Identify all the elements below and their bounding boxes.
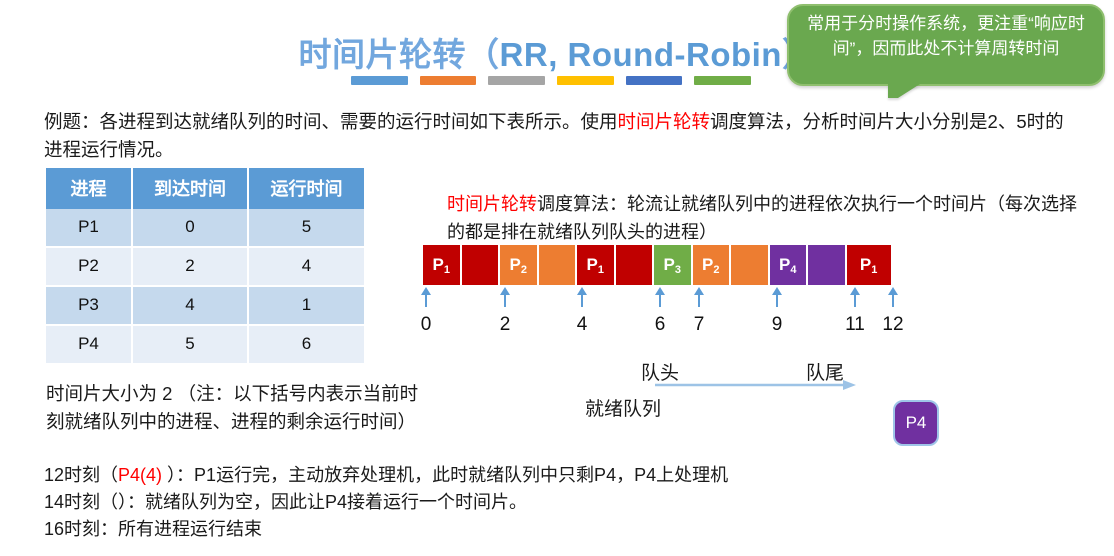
title-accent-bar-6 — [694, 76, 751, 85]
gantt-segment-blank — [730, 244, 769, 286]
process-table: 进程 到达时间 运行时间 P1 0 5 P2 2 4 P3 4 1 P4 — [46, 168, 364, 365]
timeline-note-1-highlight: P4(4) — [118, 465, 162, 485]
table-cell-burst: 1 — [248, 286, 364, 325]
timeline-note-line-1: 12时刻（P4(4) ）：P1运行完，主动放弃处理机，此时就绪队列中只剩P4，P… — [44, 462, 1104, 489]
timeline-tick-12: 12 — [882, 314, 903, 336]
timeslice-note-line2: 刻就绪队列中的进程、进程的剩余运行时间） — [46, 408, 476, 436]
title-accent-bar-4 — [557, 76, 614, 85]
table-cell-arrival: 4 — [132, 286, 248, 325]
table-header-cell: 到达时间 — [132, 168, 248, 209]
table-cell-process: P2 — [46, 247, 132, 286]
timeline-tick-11: 11 — [845, 314, 865, 336]
timeline-tick-4: 4 — [577, 314, 588, 336]
timeline-note-1-b: ）：P1运行完，主动放弃处理机，此时就绪队列中只剩P4，P4上处理机 — [162, 465, 728, 485]
callout-note: 常用于分时操作系统，更注重“响应时间”，因而此处不计算周转时间 — [787, 4, 1105, 86]
algorithm-description-highlight: 时间片轮转 — [447, 194, 537, 214]
gantt-segment-label: P2 — [702, 255, 719, 275]
table-header-row: 进程 到达时间 运行时间 — [46, 168, 364, 209]
table-cell-process: P1 — [46, 209, 132, 247]
table-cell-burst: 6 — [248, 325, 364, 364]
timeline-tick-6: 6 — [655, 314, 666, 336]
gantt-segment-index: 2 — [521, 264, 527, 276]
page-title-cn: 时间片轮转（ — [299, 36, 500, 73]
timeline-notes: 12时刻（P4(4) ）：P1运行完，主动放弃处理机，此时就绪队列中只剩P4，P… — [44, 462, 1104, 543]
timeslice-note: 时间片大小为 2 （注：以下括号内表示当前时 刻就绪队列中的进程、进程的剩余运行… — [46, 380, 476, 436]
table-cell-burst: 5 — [248, 209, 364, 247]
timeline-tick-2: 2 — [500, 314, 511, 336]
gantt-segment-P1: P1 — [576, 244, 615, 286]
gantt-segment-blank — [807, 244, 846, 286]
gantt-segment-label: P3 — [664, 255, 681, 275]
gantt-segment-index: 4 — [790, 264, 796, 276]
gantt-segment-P2: P2 — [499, 244, 538, 286]
timeline-note-line-2: 14时刻（）：就绪队列为空，因此让P4接着运行一个时间片。 — [44, 489, 1104, 516]
page-title-latin: RR, Round-Robin — [500, 36, 782, 73]
timeline-tick-9: 9 — [772, 314, 783, 336]
callout-tail-icon — [888, 84, 920, 98]
gantt-segment-label: P2 — [510, 255, 527, 275]
gantt-segment-label: P4 — [779, 255, 796, 275]
timeline-note-1-a: 12时刻（ — [44, 465, 118, 485]
intro-part-1: 例题：各进程到达就绪队列的时间、需要的运行时间如下表所示。使用 — [44, 111, 618, 132]
table-cell-process: P3 — [46, 286, 132, 325]
timeslice-note-line1: 时间片大小为 2 （注：以下括号内表示当前时 — [46, 380, 476, 408]
title-accent-bar-3 — [488, 76, 545, 85]
table-row: P2 2 4 — [46, 247, 364, 286]
gantt-segment-index: 3 — [675, 264, 681, 276]
timeline-tick-0: 0 — [421, 314, 432, 336]
table-cell-arrival: 5 — [132, 325, 248, 364]
gantt-chart: P1P2P1P3P2P4P1 — [422, 244, 894, 286]
gantt-segment-blank — [461, 244, 500, 286]
table-header-cell: 进程 — [46, 168, 132, 209]
algorithm-description-text: 调度算法：轮流让就绪队列中的进程依次执行一个时间片（每次选择的都是排在就绪队列队… — [447, 194, 1077, 242]
gantt-segment-P1: P1 — [422, 244, 461, 286]
table-cell-burst: 4 — [248, 247, 364, 286]
gantt-segment-index: 1 — [598, 264, 604, 276]
timeline-note-line-3: 16时刻：所有进程运行结束 — [44, 516, 1104, 543]
gantt-segment-P1: P1 — [846, 244, 892, 286]
gantt-segment-P4: P4 — [769, 244, 808, 286]
table-row: P1 0 5 — [46, 209, 364, 247]
gantt-segment-index: 1 — [871, 264, 877, 276]
timeline-tick-7: 7 — [694, 314, 705, 336]
table-row: P3 4 1 — [46, 286, 364, 325]
slide-canvas: 时间片轮转（RR, Round-Robin） 常用于分时操作系统，更注重“响应时… — [0, 0, 1114, 556]
gantt-segment-label: P1 — [587, 255, 604, 275]
gantt-segment-label: P1 — [433, 255, 450, 275]
algorithm-description: 时间片轮转调度算法：轮流让就绪队列中的进程依次执行一个时间片（每次选择的都是排在… — [447, 190, 1092, 246]
table-cell-process: P4 — [46, 325, 132, 364]
gantt-segment-P3: P3 — [653, 244, 692, 286]
title-accent-bar-2 — [420, 76, 477, 85]
title-accent-bars — [351, 76, 751, 85]
table-header-cell: 运行时间 — [248, 168, 364, 209]
queue-head-label: 队头 — [641, 358, 679, 385]
intro-highlight: 时间片轮转 — [618, 111, 711, 132]
gantt-segment-blank — [615, 244, 654, 286]
table-row: P4 5 6 — [46, 325, 364, 364]
gantt-segment-P2: P2 — [692, 244, 731, 286]
gantt-segment-blank — [538, 244, 577, 286]
queue-tail-label: 队尾 — [806, 358, 844, 385]
gantt-segment-index: 1 — [444, 264, 450, 276]
intro-paragraph: 例题：各进程到达就绪队列的时间、需要的运行时间如下表所示。使用时间片轮转调度算法… — [44, 108, 1074, 164]
queue-process-box-p4: P4 — [893, 400, 939, 446]
title-accent-bar-1 — [351, 76, 408, 85]
table-cell-arrival: 2 — [132, 247, 248, 286]
gantt-segment-index: 2 — [713, 264, 719, 276]
gantt-segment-label: P1 — [860, 255, 877, 275]
title-accent-bar-5 — [626, 76, 683, 85]
ready-queue-label: 就绪队列 — [585, 394, 661, 421]
table-cell-arrival: 0 — [132, 209, 248, 247]
